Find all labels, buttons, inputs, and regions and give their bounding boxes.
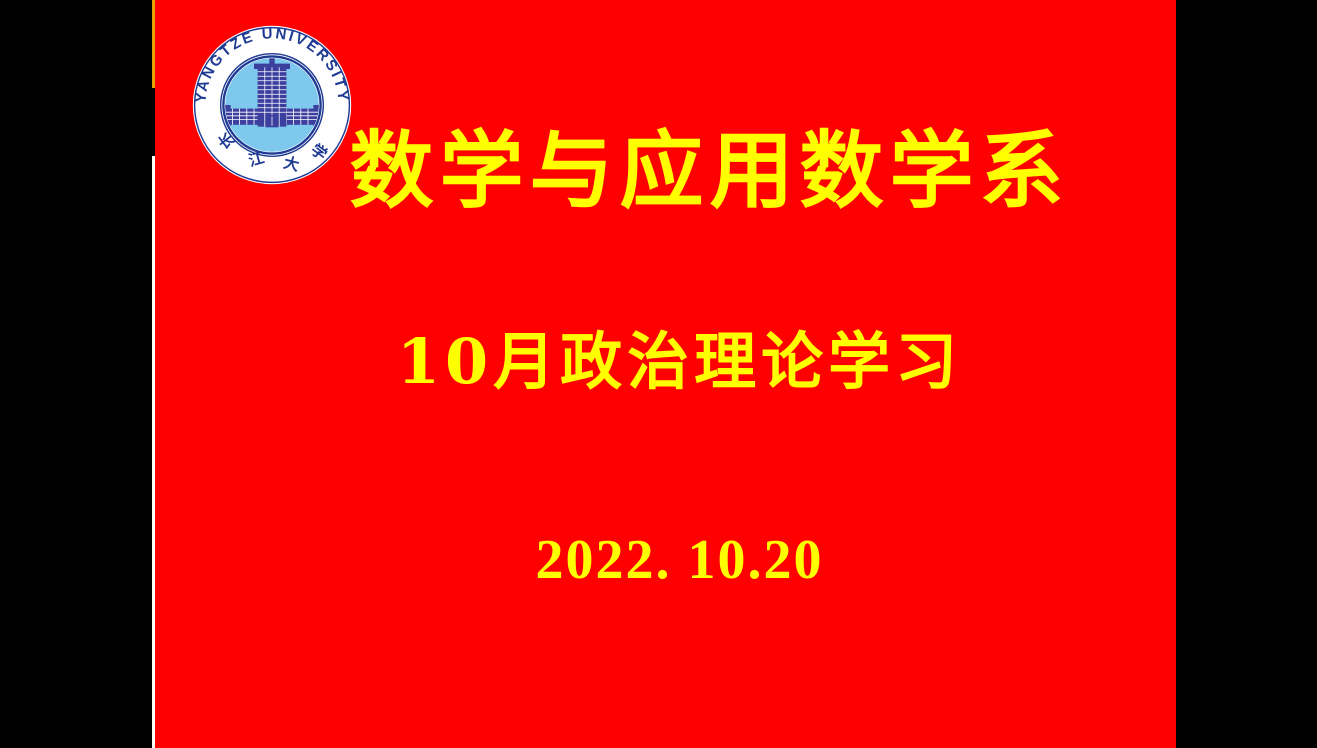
slide-subtitle: 10月政治理论学习	[155, 326, 1176, 397]
slide-date: 2022. 10.20	[155, 528, 1176, 592]
slideshow-stage: YANGTZE UNIVERSITY 长 江 大 学 数学与应用数学系 10月政…	[0, 0, 1317, 748]
presentation-slide[interactable]: YANGTZE UNIVERSITY 长 江 大 学 数学与应用数学系 10月政…	[155, 0, 1176, 748]
slide-title: 数学与应用数学系	[155, 124, 1176, 218]
